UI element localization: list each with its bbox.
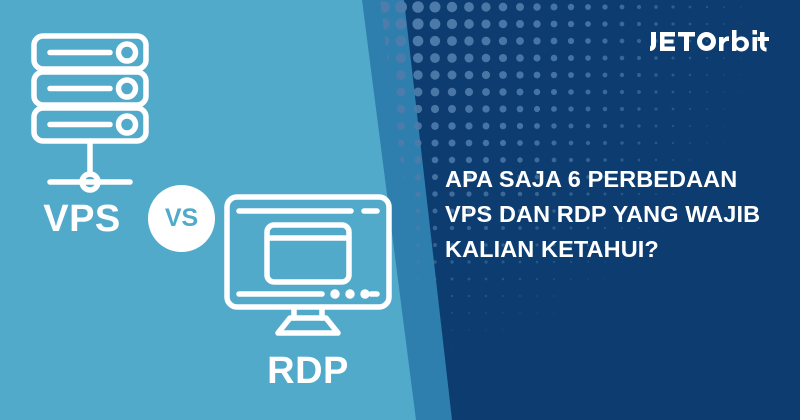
headline-line-3: KALIAN KETAHUI? — [445, 232, 775, 267]
headline: APA SAJA 6 PERBEDAAN VPS DAN RDP YANG WA… — [445, 162, 775, 267]
banner-canvas: VPS VS RDP — [0, 0, 800, 420]
versus-badge: VS — [148, 185, 215, 252]
headline-line-2: VPS DAN RDP YANG WAJIB — [445, 197, 775, 232]
server-rack-icon — [28, 28, 152, 194]
headline-line-1: APA SAJA 6 PERBEDAAN — [445, 162, 775, 197]
rdp-label: RDP — [248, 350, 368, 392]
desktop-monitor-icon — [222, 190, 394, 340]
vps-label: VPS — [22, 198, 142, 240]
jetorbit-logo: JETORBIT — [650, 27, 770, 57]
